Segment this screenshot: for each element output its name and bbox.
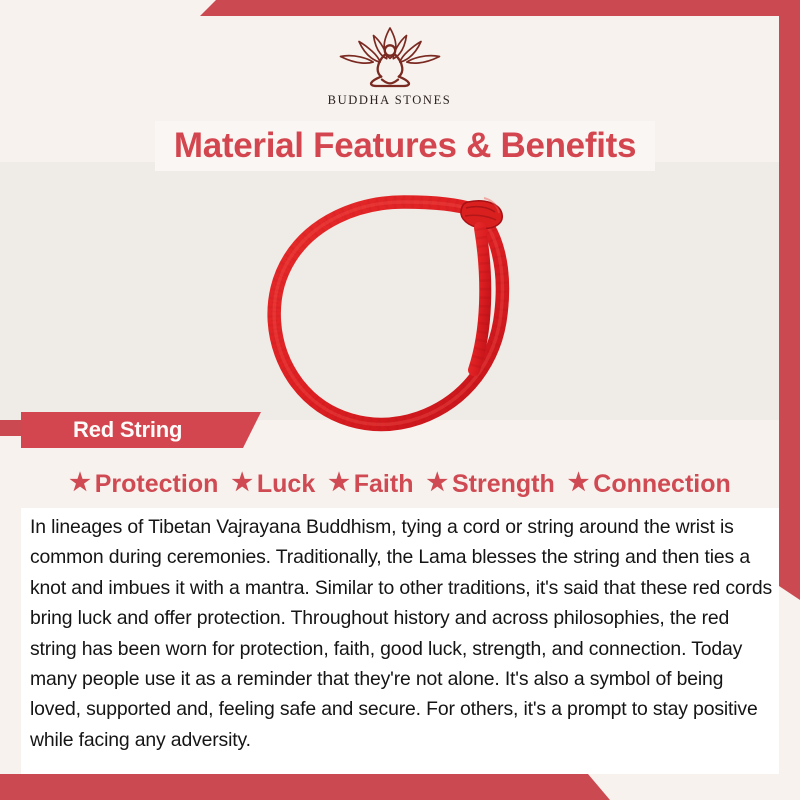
benefit-item-luck: ★ Luck	[226, 470, 320, 499]
benefit-label: Protection	[95, 470, 219, 499]
decorative-top-band	[0, 0, 800, 16]
description-panel: In lineages of Tibetan Vajrayana Buddhis…	[21, 508, 779, 774]
benefit-label: Luck	[257, 470, 315, 499]
benefit-label: Strength	[452, 470, 555, 499]
benefits-list: ★ Protection ★ Luck ★ Faith ★ Strength ★…	[21, 462, 779, 506]
brand-logo: BUDDHA STONES	[0, 22, 779, 108]
star-icon: ★	[328, 471, 350, 495]
decorative-right-bar	[779, 0, 800, 600]
header: BUDDHA STONES Material Features & Benefi…	[0, 16, 779, 162]
star-icon: ★	[231, 471, 253, 495]
star-icon: ★	[426, 471, 448, 495]
benefit-item-protection: ★ Protection	[64, 470, 223, 499]
benefit-item-strength: ★ Strength	[421, 470, 559, 499]
benefit-label: Connection	[593, 470, 731, 499]
star-icon: ★	[69, 471, 91, 495]
description-text: In lineages of Tibetan Vajrayana Buddhis…	[30, 512, 773, 755]
product-ribbon-label: Red String	[21, 412, 261, 448]
lotus-meditation-icon	[326, 22, 454, 92]
decorative-bottom-band	[0, 774, 800, 800]
page-title: Material Features & Benefits	[155, 121, 655, 171]
benefit-item-faith: ★ Faith	[323, 470, 418, 499]
red-string-bracelet-image	[252, 178, 552, 440]
infographic-page: BUDDHA STONES Material Features & Benefi…	[0, 0, 800, 800]
brand-wordmark: BUDDHA STONES	[328, 93, 452, 108]
benefit-label: Faith	[354, 470, 414, 499]
star-icon: ★	[568, 471, 590, 495]
benefit-item-connection: ★ Connection	[563, 470, 736, 499]
